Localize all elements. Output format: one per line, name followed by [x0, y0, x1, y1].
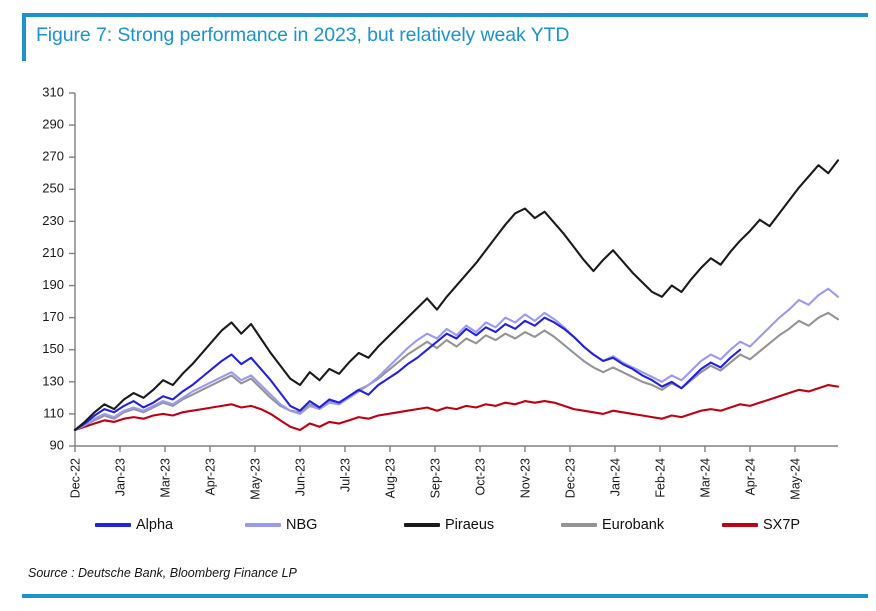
x-axis-tick-label: Jun-23 [293, 458, 307, 496]
y-axis-tick-label: 250 [42, 181, 64, 196]
x-axis-tick-label: Apr-24 [743, 458, 757, 496]
chart-legend: AlphaNBGPiraeusEurobankSX7P [0, 517, 876, 543]
x-axis-tick-label: Sep-23 [428, 458, 442, 498]
legend-label: Eurobank [602, 517, 664, 533]
legend-label: NBG [286, 517, 317, 533]
legend-label: Alpha [136, 517, 173, 533]
y-axis-tick-label: 90 [50, 437, 64, 452]
y-axis-tick-label: 190 [42, 277, 64, 292]
legend-item-eurobank[interactable]: Eurobank [561, 517, 664, 533]
x-axis-tick-label: Oct-23 [473, 458, 487, 496]
y-axis-tick-label: 270 [42, 149, 64, 164]
x-axis-tick-label: Mar-23 [158, 458, 172, 498]
legend-item-nbg[interactable]: NBG [245, 517, 317, 533]
bottom-accent-rule [22, 594, 868, 598]
x-axis-tick-label: Jan-23 [113, 458, 127, 496]
x-axis-tick-label: Aug-23 [383, 458, 397, 498]
x-axis-tick-label: May-24 [788, 458, 802, 500]
y-axis-tick-label: 210 [42, 245, 64, 260]
x-axis-tick-label: Dec-23 [563, 458, 577, 498]
legend-label: SX7P [763, 517, 800, 533]
left-accent-bar [22, 13, 26, 61]
x-axis-tick-label: Mar-24 [698, 458, 712, 498]
x-axis-tick-label: Jul-23 [338, 458, 352, 492]
line-chart-svg: 90110130150170190210230250270290310Dec-2… [0, 76, 876, 516]
series-line-piraeus [75, 160, 838, 430]
y-axis-tick-label: 150 [42, 341, 64, 356]
legend-label: Piraeus [445, 517, 494, 533]
x-axis-tick-label: Dec-22 [69, 458, 83, 498]
top-accent-rule [22, 13, 868, 17]
legend-item-piraeus[interactable]: Piraeus [404, 517, 494, 533]
x-axis-tick-label: May-23 [248, 458, 262, 500]
legend-swatch-alpha [95, 523, 131, 527]
chart-plot-area: 90110130150170190210230250270290310Dec-2… [0, 76, 876, 516]
y-axis-tick-label: 230 [42, 213, 64, 228]
x-axis-tick-label: Nov-23 [518, 458, 532, 498]
legend-swatch-nbg [245, 523, 281, 527]
x-axis-tick-label: Jan-24 [608, 458, 622, 496]
x-axis-tick-label: Feb-24 [653, 458, 667, 498]
figure-container: Figure 7: Strong performance in 2023, bu… [0, 0, 876, 611]
legend-item-alpha[interactable]: Alpha [95, 517, 173, 533]
series-line-sx7p [75, 385, 838, 430]
legend-swatch-eurobank [561, 523, 597, 527]
figure-title: Figure 7: Strong performance in 2023, bu… [36, 24, 569, 47]
series-line-eurobank [75, 313, 838, 430]
y-axis-tick-label: 130 [42, 373, 64, 388]
y-axis-tick-label: 110 [43, 405, 64, 420]
legend-item-sx7p[interactable]: SX7P [722, 517, 800, 533]
x-axis-tick-label: Apr-23 [203, 458, 217, 496]
series-line-alpha [75, 318, 740, 430]
legend-swatch-piraeus [404, 523, 440, 527]
y-axis-tick-label: 310 [42, 84, 64, 99]
legend-swatch-sx7p [722, 523, 758, 527]
y-axis-tick-label: 170 [42, 309, 64, 324]
figure-source: Source : Deutsche Bank, Bloomberg Financ… [28, 566, 297, 580]
y-axis-tick-label: 290 [42, 117, 64, 132]
